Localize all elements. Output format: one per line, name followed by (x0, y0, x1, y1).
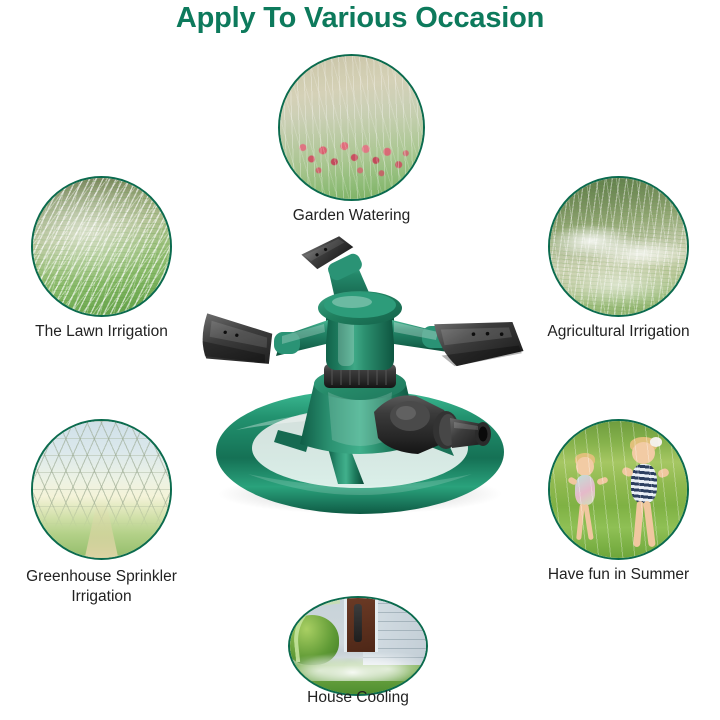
child-right-hair-bow (650, 437, 662, 447)
child-right-leg-left (633, 501, 644, 547)
page-title: Apply To Various Occasion (0, 2, 720, 35)
lawn-water-spray-image (33, 178, 170, 315)
photo-greenhouse-sprinkler-irrigation (31, 419, 172, 560)
sprinkler-hub-cap (318, 291, 402, 325)
photo-agricultural-irrigation (548, 176, 689, 317)
sprinkler-arm-left (196, 313, 328, 373)
caption-have-fun-in-summer: Have fun in Summer (526, 565, 711, 585)
caption-the-lawn-irrigation: The Lawn Irrigation (0, 322, 203, 342)
caption-house-cooling: House Cooling (263, 688, 453, 708)
flowers-field-sprinkler-image (280, 56, 423, 199)
child-right-arm-right (657, 468, 671, 480)
photo-house-cooling (288, 596, 428, 696)
callout-have-fun-in-summer[interactable]: Have fun in Summer (548, 419, 689, 560)
photo-have-fun-in-summer (548, 419, 689, 560)
child-left-leg-right (583, 503, 594, 539)
child-right-hair (630, 437, 657, 451)
child-right-swimsuit (631, 464, 657, 503)
child-left-arm-left (567, 476, 578, 486)
sprinkler-spraying-beside-house-image (290, 598, 426, 694)
sprinkler-post (354, 604, 362, 642)
product-image-sprinkler (178, 216, 538, 516)
sprinkler-arm-right (392, 315, 524, 368)
child-left-arm-right (596, 477, 608, 486)
photo-garden-watering (278, 54, 425, 201)
water-mist (290, 638, 426, 680)
callout-the-lawn-irrigation[interactable]: The Lawn Irrigation (31, 176, 172, 317)
callout-greenhouse-sprinkler-irrigation[interactable]: Greenhouse Sprinkler Irrigation (31, 419, 172, 560)
child-right (619, 437, 671, 547)
child-left (566, 451, 607, 541)
callout-garden-watering[interactable]: Garden Watering (278, 54, 425, 201)
callout-agricultural-irrigation[interactable]: Agricultural Irrigation (548, 176, 689, 317)
child-left-head (576, 457, 593, 476)
two-children-playing-in-sprinkler-image (550, 421, 687, 558)
greenhouse-interior-rows-image (33, 421, 170, 558)
caption-agricultural-irrigation: Agricultural Irrigation (527, 322, 710, 342)
greenhouse-walkway (78, 498, 125, 558)
child-left-leg-left (576, 503, 585, 539)
infographic-canvas: Apply To Various Occasion Garden Waterin… (0, 0, 720, 720)
child-right-arm-left (620, 466, 634, 478)
child-left-hair (575, 453, 596, 466)
child-right-leg-right (643, 501, 655, 547)
child-left-swimsuit (575, 475, 595, 506)
farm-field-sprinkler-image (550, 178, 687, 315)
child-right-head (632, 442, 655, 464)
callout-house-cooling[interactable]: House Cooling (288, 596, 428, 696)
photo-the-lawn-irrigation (31, 176, 172, 317)
caption-greenhouse-sprinkler-irrigation: Greenhouse Sprinkler Irrigation (0, 567, 203, 608)
